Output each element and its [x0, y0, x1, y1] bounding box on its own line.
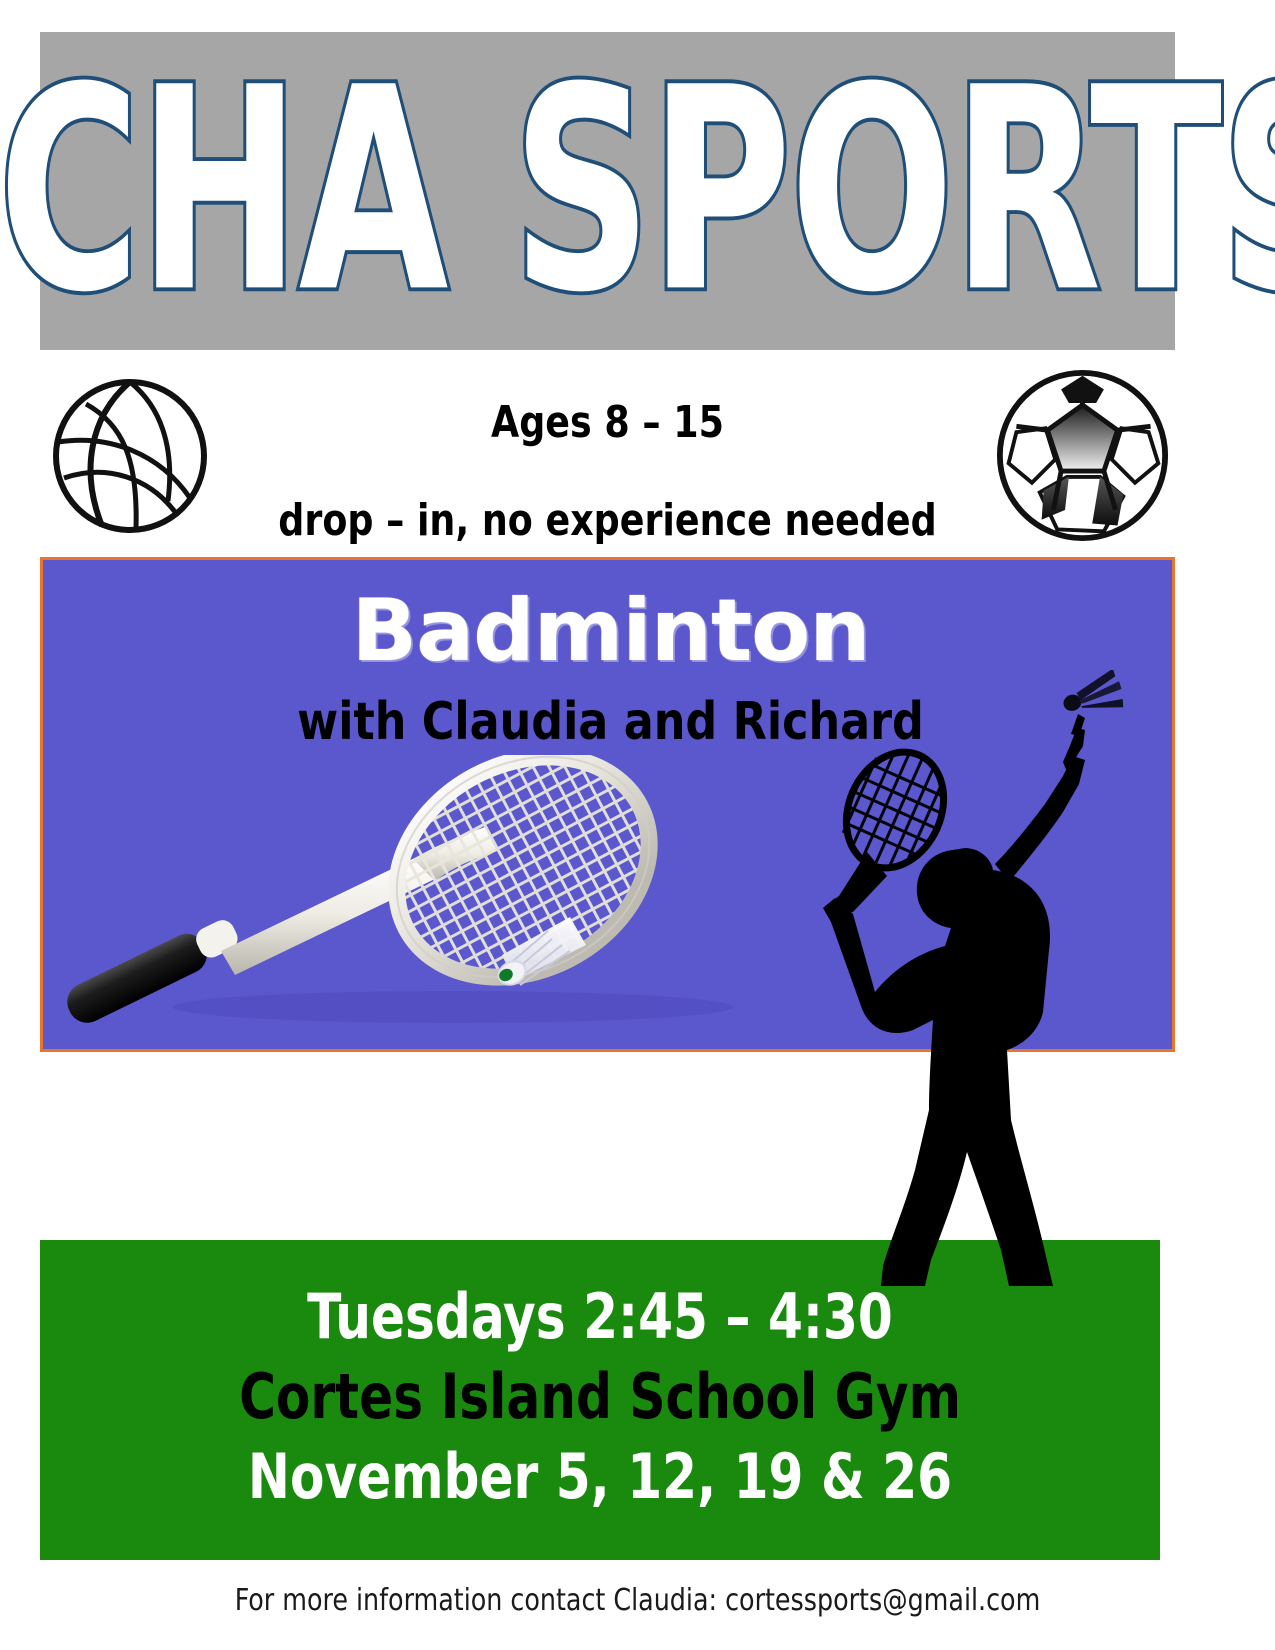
dropin-line: drop – in, no experience needed: [85, 492, 1129, 550]
info-band: Ages 8 – 15 drop – in, no experience nee…: [40, 358, 1175, 552]
page-title: CCHA SPORTS: [0, 58, 1275, 324]
soccer-ball-icon: [995, 368, 1170, 543]
ages-line: Ages 8 – 15: [85, 394, 1129, 452]
contact-line: For more information contact Claudia: co…: [38, 1583, 1237, 1618]
schedule-location: Cortes Island School Gym: [96, 1366, 1104, 1428]
badminton-player-silhouette-icon: [795, 700, 1085, 1290]
poster-root: CCHA SPORTS Ages 8 – 15 drop – in, no ex…: [0, 0, 1275, 1650]
schedule-dates: November 5, 12, 19 & 26: [96, 1446, 1104, 1508]
schedule-time: Tuesdays 2:45 – 4:30: [96, 1286, 1104, 1348]
badminton-racket-icon: [53, 755, 773, 1045]
activity-name: Badminton: [43, 588, 1178, 674]
title-banner: CCHA SPORTS: [40, 32, 1175, 350]
